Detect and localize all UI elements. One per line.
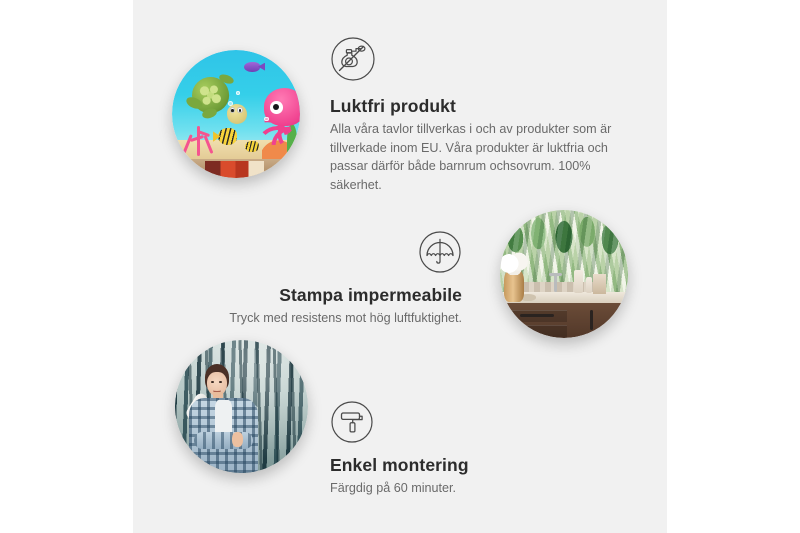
cabinet-handle <box>590 310 594 330</box>
drawer-handle <box>520 314 553 317</box>
bottle-icon <box>586 277 592 294</box>
flowers-icon <box>501 252 528 275</box>
umbrella-icon <box>200 230 462 279</box>
woman-figure <box>186 364 268 473</box>
faucet-icon <box>554 274 557 292</box>
feature-easy-mounting: Enkel montering Färgdig på 60 minuter. <box>330 400 590 498</box>
feature-description: Färgdig på 60 minuter. <box>330 479 590 498</box>
feature-odour-free: Luktfri produkt Alla våra tavlor tillver… <box>330 36 630 194</box>
paint-roller-icon <box>330 400 590 449</box>
turtle-icon <box>189 77 245 126</box>
feature-description: Tryck med resistens mot hög luftfuktighe… <box>200 309 462 328</box>
yellow-fish-small-icon <box>245 141 259 153</box>
no-odour-perfume-icon <box>330 36 630 87</box>
purple-fish-icon <box>244 62 261 72</box>
towel-icon <box>593 274 606 294</box>
image-woman-with-paint-roller <box>175 340 308 473</box>
t-shirt <box>215 400 231 433</box>
foreground-strip <box>205 161 264 178</box>
drawer <box>510 325 566 338</box>
yellow-fish-icon <box>218 128 237 145</box>
folded-arms <box>194 432 253 449</box>
feature-description: Alla våra tavlor tillverkas i och av pro… <box>330 120 630 194</box>
bubble-icon <box>236 91 240 95</box>
feature-waterproof-print: Stampa impermeabile Tryck med resistens … <box>200 230 462 328</box>
promo-banner: Luktfri produkt Alla våra tavlor tillver… <box>0 0 800 533</box>
feature-title: Enkel montering <box>330 455 590 476</box>
bubble-icon <box>264 117 268 121</box>
feature-title: Stampa impermeabile <box>200 285 462 306</box>
image-underwater-scene <box>172 50 300 178</box>
bottle-icon <box>574 270 583 293</box>
image-bathroom-leaf-wallpaper <box>500 210 628 338</box>
feature-title: Luktfri produkt <box>330 96 630 117</box>
hand <box>232 432 244 447</box>
